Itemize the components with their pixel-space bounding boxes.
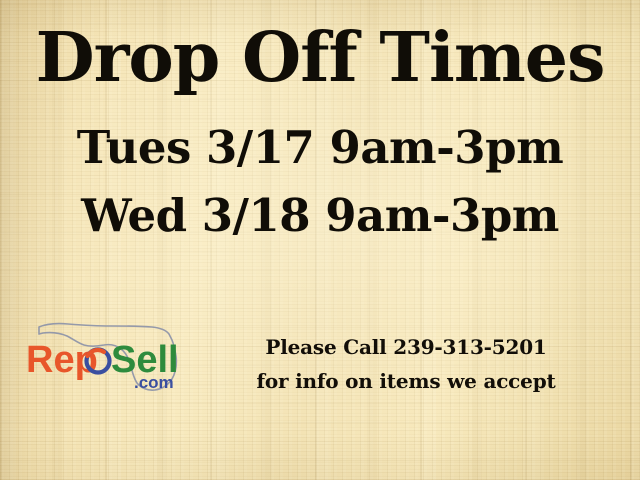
page-title: Drop Off Times (0, 22, 640, 94)
reposell-logo[interactable]: Rep Sell .com (26, 314, 194, 394)
contact-block: Please Call 239-313-5201 for info on ite… (230, 330, 582, 398)
schedule-line-tuesday: Tues 3/17 9am-3pm (0, 123, 640, 173)
schedule-line-wednesday: Wed 3/18 9am-3pm (0, 191, 640, 241)
flyer-poster: Drop Off Times Tues 3/17 9am-3pm Wed 3/1… (0, 0, 640, 480)
logo-text-tld: .com (134, 373, 174, 392)
contact-info-line: for info on items we accept (230, 364, 582, 398)
contact-phone-line: Please Call 239-313-5201 (230, 330, 582, 364)
reposell-logo-graphic: Rep Sell .com (26, 314, 194, 394)
